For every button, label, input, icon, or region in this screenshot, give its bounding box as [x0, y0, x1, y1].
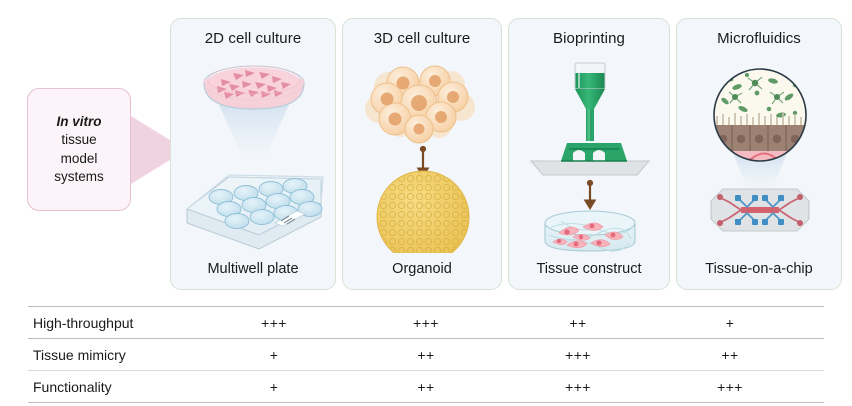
panel-microfluidics[interactable]: Microfluidics — [676, 18, 842, 290]
panel-title: Microfluidics — [677, 30, 841, 47]
panel-title: 3D cell culture — [343, 30, 501, 47]
table-rule-bottom — [28, 402, 824, 403]
row-1-cell-0: + — [198, 347, 350, 363]
figure-root: In vitro tissue model systems 2D cell cu… — [0, 0, 852, 406]
row-label: High-throughput — [28, 315, 206, 331]
panel-3d-cell-culture[interactable]: 3D cell culture — [342, 18, 502, 290]
row-0-cell-0: +++ — [198, 315, 350, 331]
callout-line-3: systems — [54, 169, 104, 184]
row-2-cell-1: ++ — [350, 379, 502, 395]
petri-dish-and-multiwell-plate-illustration — [171, 57, 335, 251]
panel-title: Bioprinting — [509, 30, 669, 47]
row-2-cell-0: + — [198, 379, 350, 395]
callout-line-1: tissue — [61, 132, 96, 147]
callout-text: In vitro tissue model systems — [54, 113, 104, 187]
callout-box: In vitro tissue model systems — [27, 88, 131, 211]
table-row: High-throughput +++ +++ ++ + — [28, 307, 824, 338]
panel-title: 2D cell culture — [171, 30, 335, 47]
table-row: Tissue mimicry + ++ +++ ++ — [28, 339, 824, 370]
cell-cluster-and-organoid-illustration — [343, 57, 501, 251]
panel-bioprinting[interactable]: Bioprinting — [508, 18, 670, 290]
panel-caption: Tissue construct — [509, 261, 669, 277]
panel-caption: Multiwell plate — [171, 261, 335, 277]
callout-italic-line: In vitro — [54, 113, 104, 132]
comparison-table: High-throughput +++ +++ ++ + Tissue mimi… — [28, 306, 824, 403]
panel-caption: Tissue-on-a-chip — [677, 261, 841, 277]
table-row: Functionality + ++ +++ +++ — [28, 371, 824, 402]
row-label: Tissue mimicry — [28, 347, 206, 363]
row-0-cell-3: + — [654, 315, 806, 331]
row-1-cell-1: ++ — [350, 347, 502, 363]
row-2-cell-3: +++ — [654, 379, 806, 395]
panel-caption: Organoid — [343, 261, 501, 277]
row-1-cell-3: ++ — [654, 347, 806, 363]
panel-2d-cell-culture[interactable]: 2D cell culture — [170, 18, 336, 290]
callout-line-2: model — [61, 151, 98, 166]
magnified-epithelium-and-microfluidic-chip-illustration — [677, 57, 841, 251]
in-vitro-callout: In vitro tissue model systems — [22, 88, 182, 213]
row-0-cell-2: ++ — [502, 315, 654, 331]
row-0-cell-1: +++ — [350, 315, 502, 331]
row-2-cell-2: +++ — [502, 379, 654, 395]
row-label: Functionality — [28, 379, 206, 395]
row-1-cell-2: +++ — [502, 347, 654, 363]
bioprinter-and-tissue-construct-illustration — [509, 57, 669, 251]
